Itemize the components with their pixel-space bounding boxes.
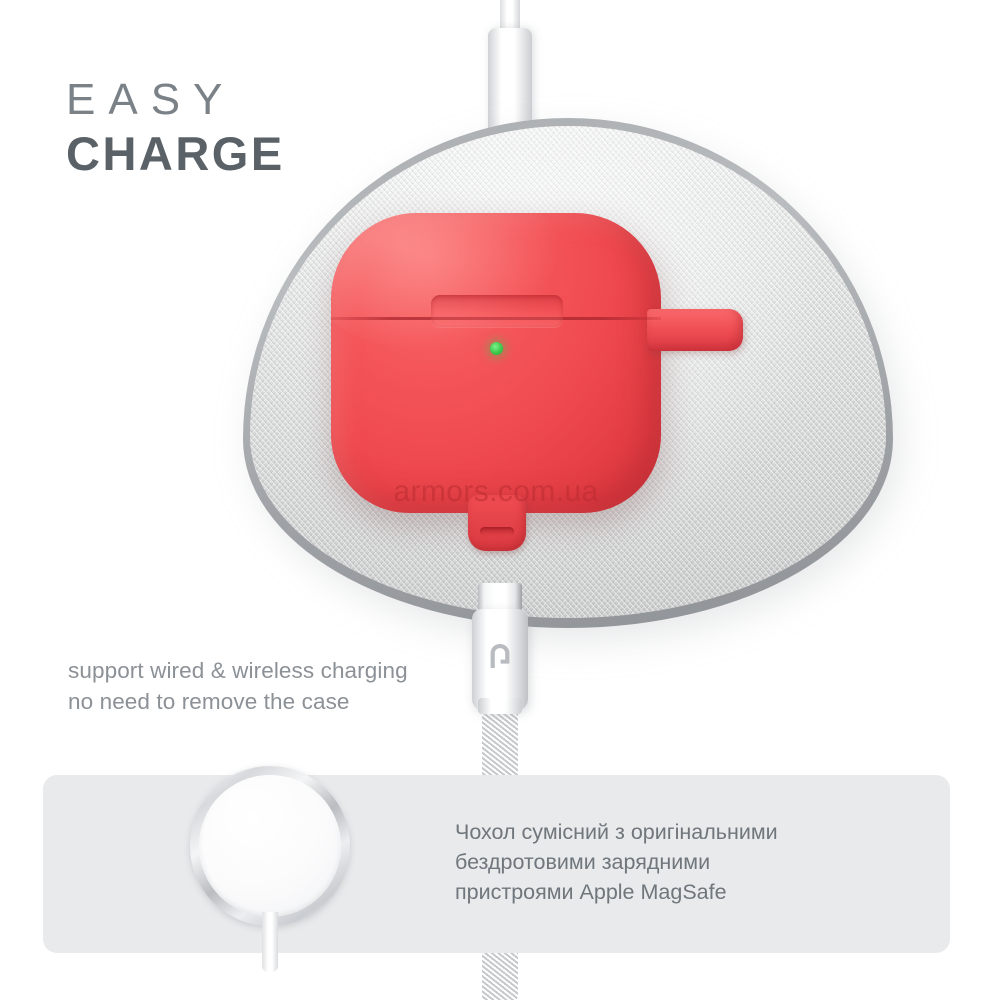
status-led-icon [490, 342, 503, 355]
cable-collar [478, 698, 522, 714]
airpods-case: armors.com.ua [331, 213, 661, 513]
case-lid-indent [431, 295, 563, 327]
armorstandart-logo-icon [489, 643, 511, 669]
promo-banner: EASY CHARGE armors.com.ua support wired … [0, 0, 1000, 1000]
keychain-tab [647, 309, 743, 351]
magsafe-cable [262, 912, 278, 972]
watermark: armors.com.ua [331, 475, 661, 509]
page-title-line-1: EASY [66, 78, 285, 122]
usb-c-plug [472, 583, 528, 711]
feature-description: support wired & wireless charging no nee… [68, 655, 408, 717]
magsafe-face [199, 775, 341, 917]
airpods-case-body [331, 213, 661, 513]
info-panel-text: Чохол сумісний з оригінальними бездротов… [455, 817, 885, 907]
charging-port-slot [480, 527, 514, 536]
magsafe-charger [190, 766, 350, 926]
